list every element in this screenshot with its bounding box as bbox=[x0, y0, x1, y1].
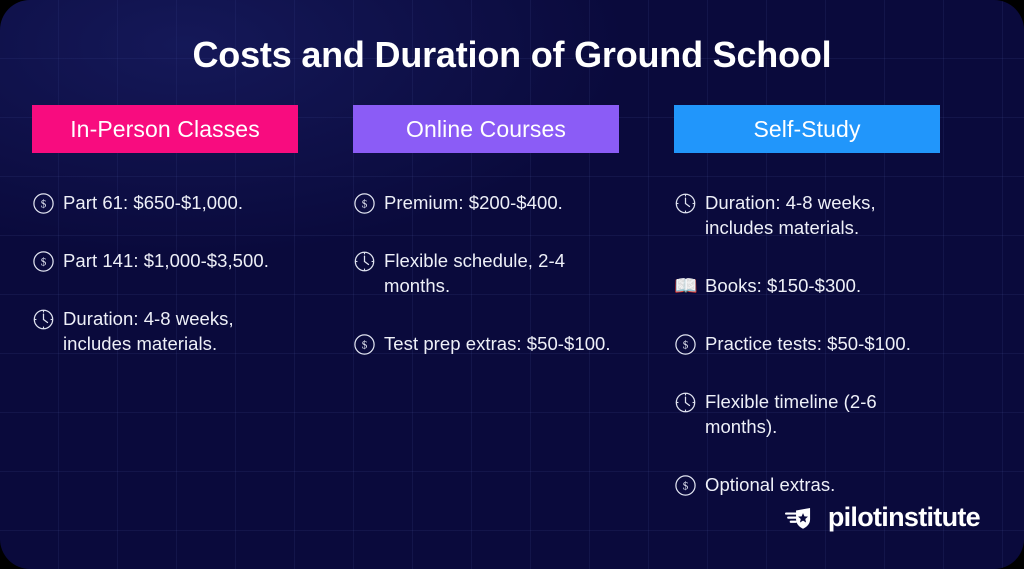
list-item-label: Practice tests: $50-$100. bbox=[705, 331, 911, 356]
list-item: $Optional extras. bbox=[674, 472, 940, 497]
list-item: Flexible schedule, 2-4 months. bbox=[353, 248, 619, 298]
brand-logo: pilotinstitute bbox=[785, 504, 980, 531]
list-item-label: Test prep extras: $50-$100. bbox=[384, 331, 611, 356]
list-item-label: Premium: $200-$400. bbox=[384, 190, 563, 215]
page-title: Costs and Duration of Ground School bbox=[0, 33, 1024, 77]
dollar-circle-icon: $ bbox=[353, 192, 376, 215]
list-item-label: Flexible schedule, 2-4 months. bbox=[384, 248, 619, 298]
list-item: $Part 141: $1,000-$3,500. bbox=[32, 248, 298, 273]
list-item-label: Books: $150-$300. bbox=[705, 273, 861, 298]
column-2: Self-StudyDuration: 4-8 weeks, includes … bbox=[674, 105, 940, 530]
list-item-label: Duration: 4-8 weeks, includes materials. bbox=[63, 306, 298, 356]
clock-icon bbox=[674, 391, 697, 414]
clock-icon bbox=[674, 192, 697, 215]
list-item: $Test prep extras: $50-$100. bbox=[353, 331, 619, 356]
dollar-circle-icon: $ bbox=[674, 474, 697, 497]
svg-text:$: $ bbox=[41, 257, 47, 269]
column-item-list: $Part 61: $650-$1,000.$Part 141: $1,000-… bbox=[32, 190, 298, 356]
list-item: $Part 61: $650-$1,000. bbox=[32, 190, 298, 215]
brand-wordmark: pilotinstitute bbox=[828, 504, 980, 531]
dollar-circle-icon: $ bbox=[32, 192, 55, 215]
list-item-label: Part 61: $650-$1,000. bbox=[63, 190, 243, 215]
list-item-label: Optional extras. bbox=[705, 472, 835, 497]
list-item-label: Duration: 4-8 weeks, includes materials. bbox=[705, 190, 940, 240]
dollar-circle-icon: $ bbox=[353, 333, 376, 356]
winged-shield-star-icon bbox=[785, 505, 819, 531]
list-item: $Premium: $200-$400. bbox=[353, 190, 619, 215]
dollar-circle-icon: $ bbox=[32, 250, 55, 273]
columns-container: In-Person Classes$Part 61: $650-$1,000.$… bbox=[32, 105, 970, 530]
svg-text:$: $ bbox=[683, 481, 689, 493]
column-badge[interactable]: Online Courses bbox=[353, 105, 619, 153]
list-item: Duration: 4-8 weeks, includes materials. bbox=[32, 306, 298, 356]
clock-icon bbox=[32, 308, 55, 331]
list-item: Duration: 4-8 weeks, includes materials. bbox=[674, 190, 940, 240]
svg-text:$: $ bbox=[41, 199, 47, 211]
column-item-list: Duration: 4-8 weeks, includes materials.… bbox=[674, 190, 940, 497]
list-item: 📖Books: $150-$300. bbox=[674, 273, 940, 298]
list-item: Flexible timeline (2-6 months). bbox=[674, 389, 940, 439]
svg-text:$: $ bbox=[362, 340, 368, 352]
clock-icon bbox=[353, 250, 376, 273]
column-0: In-Person Classes$Part 61: $650-$1,000.$… bbox=[32, 105, 298, 530]
open-book-icon: 📖 bbox=[674, 275, 697, 298]
list-item-label: Flexible timeline (2-6 months). bbox=[705, 389, 940, 439]
column-badge[interactable]: In-Person Classes bbox=[32, 105, 298, 153]
list-item: $Practice tests: $50-$100. bbox=[674, 331, 940, 356]
list-item-label: Part 141: $1,000-$3,500. bbox=[63, 248, 269, 273]
dollar-circle-icon: $ bbox=[674, 333, 697, 356]
svg-text:$: $ bbox=[683, 340, 689, 352]
column-1: Online Courses$Premium: $200-$400.Flexib… bbox=[353, 105, 619, 530]
column-badge[interactable]: Self-Study bbox=[674, 105, 940, 153]
column-item-list: $Premium: $200-$400.Flexible schedule, 2… bbox=[353, 190, 619, 356]
svg-text:$: $ bbox=[362, 199, 368, 211]
infographic-card: Costs and Duration of Ground School In-P… bbox=[0, 0, 1024, 569]
